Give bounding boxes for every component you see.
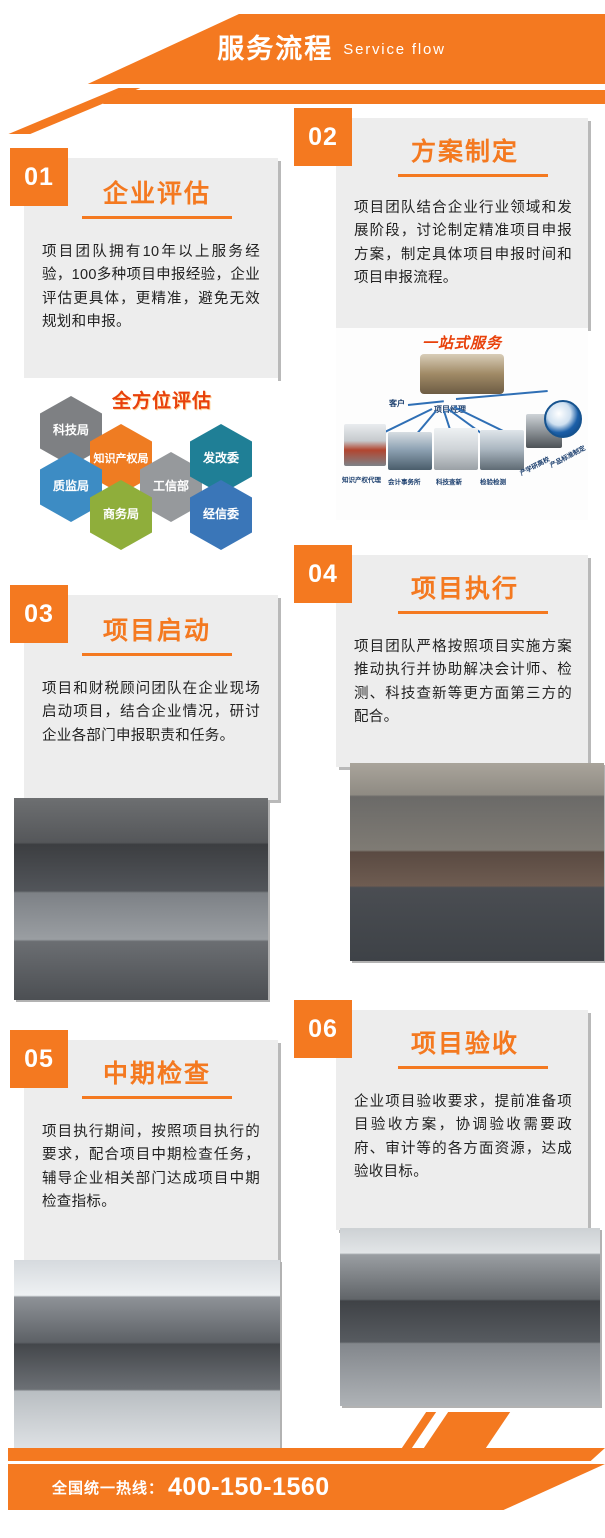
- step-number-badge: 01: [10, 148, 68, 206]
- one-stop-node-label: 会计事务所: [388, 476, 421, 486]
- step-panel: 方案制定 项目团队结合企业行业领域和发展阶段，讨论制定精准项目申报方案，制定具体…: [336, 118, 588, 328]
- step-photo: [340, 1228, 600, 1406]
- hex-diagram-title: 全方位评估: [112, 386, 212, 413]
- title-underline: [82, 1096, 232, 1099]
- certification-seal-icon: [544, 400, 582, 438]
- step-description: 项目执行期间，按照项目执行的要求，配合项目中期检查任务，辅导企业相关部门达成项目…: [42, 1121, 260, 1215]
- service-flow-poster: 服务流程 Service flow 01 企业评估 项目团队拥有10年以上服务经…: [0, 0, 605, 1538]
- step-panel: 项目执行 项目团队严格按照项目实施方案推动执行并协助解决会计师、检测、科技查新等…: [336, 555, 588, 767]
- step-photo: [14, 1260, 280, 1456]
- one-stop-node-label: 知识产权代理: [342, 474, 381, 484]
- step-title: 项目执行: [360, 577, 570, 602]
- step-title: 项目验收: [360, 1032, 570, 1057]
- step-panel: 项目验收 企业项目验收要求，提前准备项目验收方案，协调验收需要政府、审计等的各方…: [336, 1010, 588, 1230]
- step-card-04[interactable]: 04 项目执行 项目团队严格按照项目实施方案推动执行并协助解决会计师、检测、科技…: [294, 545, 594, 965]
- step-card-06[interactable]: 06 项目验收 企业项目验收要求，提前准备项目验收方案，协调验收需要政府、审计等…: [294, 1000, 594, 1410]
- one-stop-client-label: 客户: [389, 398, 405, 409]
- page-title: 服务流程 Service flow: [0, 14, 605, 84]
- step-card-03[interactable]: 03 项目启动 项目和财税顾问团队在企业现场启动项目，结合企业情况，研讨企业各部…: [10, 585, 278, 980]
- title-underline: [82, 653, 232, 656]
- step-photo: [14, 798, 268, 1000]
- step-description: 企业项目验收要求，提前准备项目验收方案，协调验收需要政府、审计等的各方面资源，达…: [354, 1091, 572, 1185]
- hotline[interactable]: 全国统一热线： 400-150-1560: [52, 1464, 330, 1510]
- title-underline: [82, 216, 232, 219]
- step-card-02[interactable]: 02 方案制定 项目团队结合企业行业领域和发展阶段，讨论制定精准项目申报方案，制…: [294, 108, 594, 538]
- one-stop-node-photo: [344, 424, 386, 466]
- step-description: 项目团队拥有10年以上服务经验，100多种项目申报经验，企业评估更具体，更精准，…: [42, 241, 260, 335]
- step-number-badge: 05: [10, 1030, 68, 1088]
- step-title: 企业评估: [58, 182, 256, 207]
- footer-stripe-shape: [8, 1448, 605, 1461]
- step-title: 方案制定: [360, 140, 570, 165]
- one-stop-diagram: 一站式服务 客户 项目经理 知识产权代理 会计事务所 科技查新 检验检测 产学研…: [336, 328, 588, 520]
- one-stop-hub-photo: [420, 354, 504, 394]
- one-stop-node-label: 科技查新: [436, 476, 462, 486]
- one-stop-node-label: 检验检测: [480, 476, 506, 486]
- title-underline: [398, 174, 548, 177]
- step-title: 中期检查: [58, 1062, 256, 1087]
- one-stop-node-photo: [480, 430, 524, 470]
- step-description: 项目和财税顾问团队在企业现场启动项目，结合企业情况，研讨企业各部门申报职责和任务…: [42, 678, 260, 748]
- title-underline: [398, 1066, 548, 1069]
- step-description: 项目团队结合企业行业领域和发展阶段，讨论制定精准项目申报方案，制定具体项目申报时…: [354, 197, 572, 291]
- step-title: 项目启动: [58, 619, 256, 644]
- hex-diagram: 全方位评估 科技局 知识产权局 质监局 工信部 商务局 发改委 经信委: [24, 378, 278, 528]
- one-stop-node-photo: [388, 432, 432, 470]
- step-card-01[interactable]: 01 企业评估 项目团队拥有10年以上服务经验，100多种项目申报经验，企业评估…: [10, 148, 278, 538]
- step-number-badge: 06: [294, 1000, 352, 1058]
- page-footer: 全国统一热线： 400-150-1560: [0, 1448, 605, 1510]
- step-description: 项目团队严格按照项目实施方案推动执行并协助解决会计师、检测、科技查新等更方面第三…: [354, 636, 572, 730]
- one-stop-title: 一站式服务: [336, 332, 588, 353]
- step-number-badge: 02: [294, 108, 352, 166]
- hotline-number: 400-150-1560: [168, 1473, 330, 1502]
- hotline-label: 全国统一热线：: [52, 1477, 164, 1498]
- step-number-badge: 04: [294, 545, 352, 603]
- step-number-badge: 03: [10, 585, 68, 643]
- step-photo: [350, 763, 604, 961]
- page-title-en: Service flow: [343, 41, 445, 58]
- one-stop-node-photo: [434, 428, 478, 470]
- step-card-05[interactable]: 05 中期检查 项目执行期间，按照项目执行的要求，配合项目中期检查任务，辅导企业…: [10, 1030, 278, 1430]
- page-title-cn: 服务流程: [217, 36, 333, 63]
- title-underline: [398, 611, 548, 614]
